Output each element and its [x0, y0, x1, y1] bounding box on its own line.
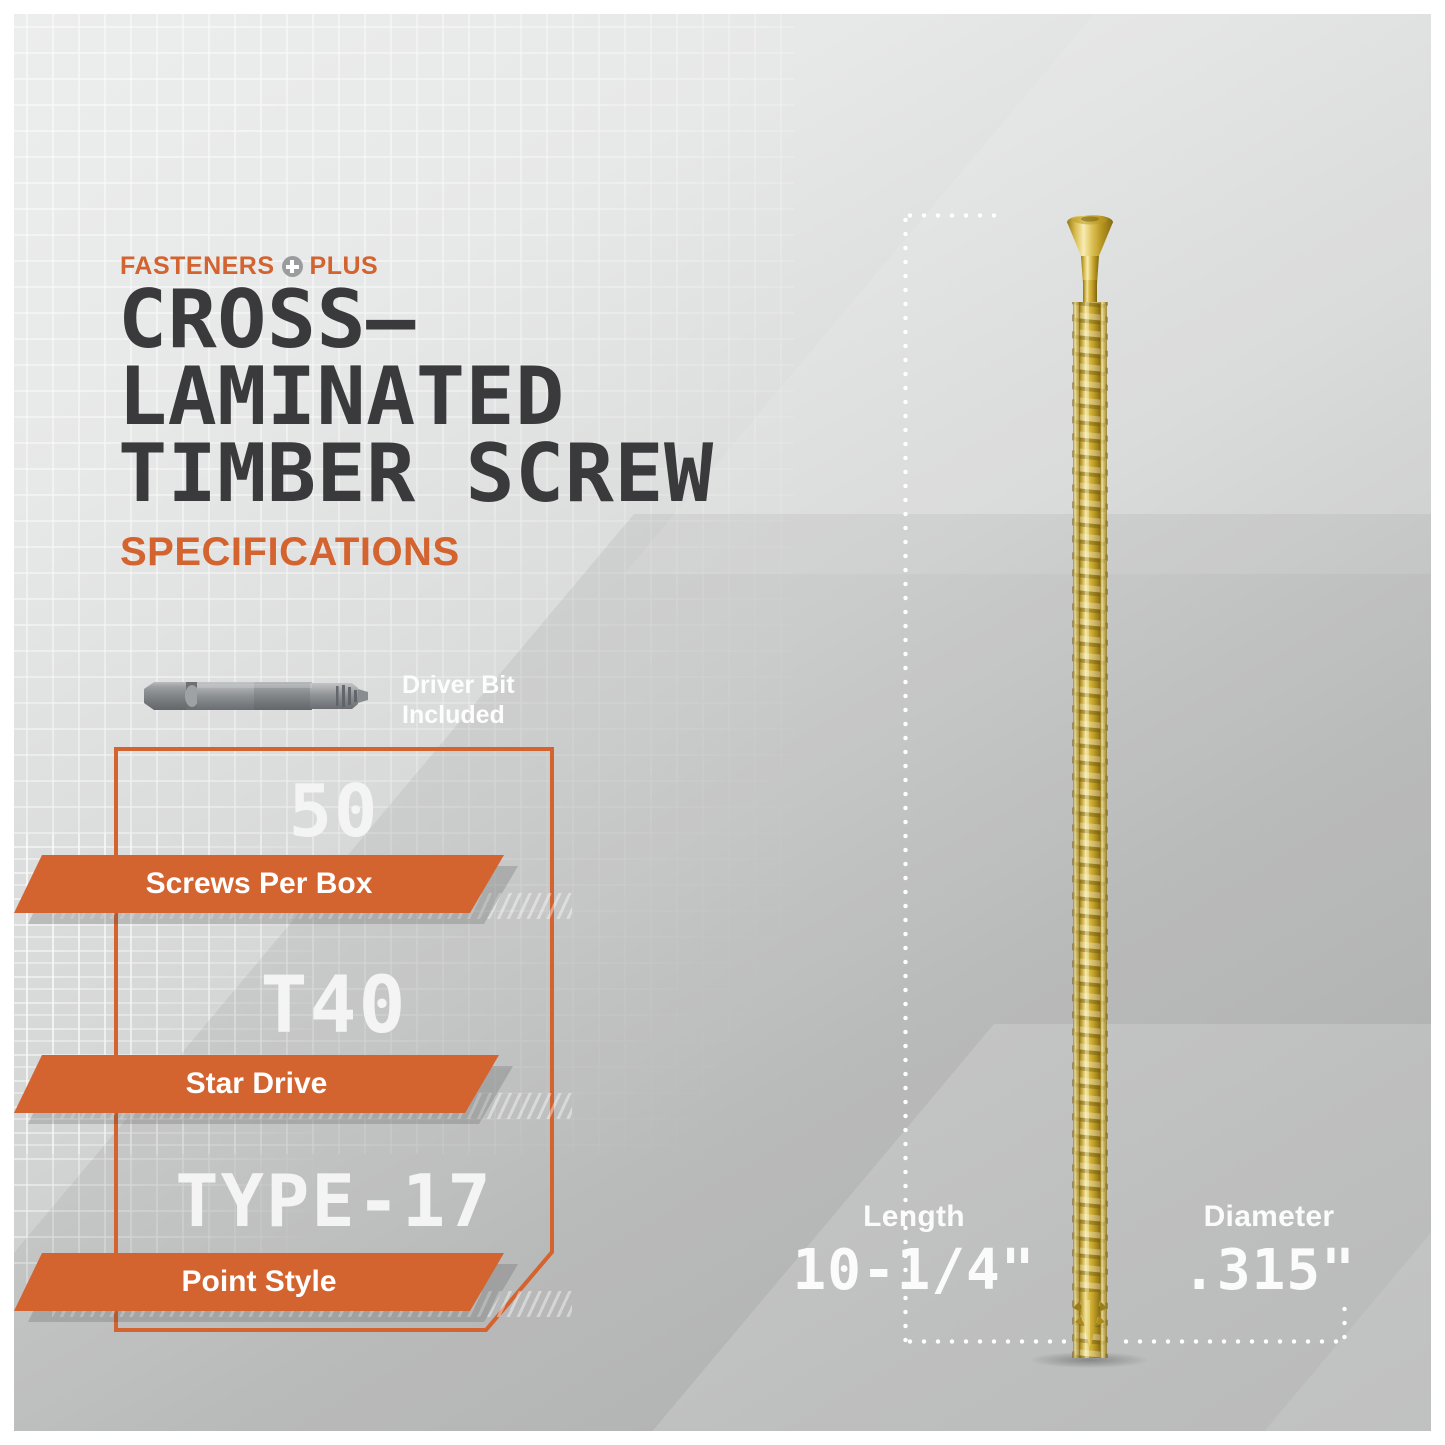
product-spec-graphic: FASTENERS PLUS CROSS– LAMINATED TIMBER S…: [0, 0, 1445, 1445]
dimension-line-bottom-right: [1119, 1339, 1347, 1344]
driver-bit-label-line-1: Driver Bit: [402, 670, 515, 700]
spec-value: TYPE-17: [114, 1159, 554, 1243]
screw-image: [1066, 210, 1114, 1358]
spec-ribbon: Screws Per Box: [14, 855, 504, 913]
spec-label: Star Drive: [14, 1055, 499, 1113]
dimension-line-right: [1342, 1302, 1347, 1344]
spec-value: 50: [114, 769, 554, 853]
dimension-line-bottom-left: [903, 1339, 1066, 1344]
specifications-panel: 50 Screws Per Box T40 Star Drive: [114, 747, 554, 1332]
measurement-value: .315": [1144, 1238, 1394, 1303]
driver-bit-label: Driver Bit Included: [402, 670, 515, 730]
driver-bit-icon: [142, 678, 377, 714]
measurement-diameter: Diameter .315": [1144, 1200, 1394, 1303]
page-title: CROSS– LAMINATED TIMBER SCREW: [118, 282, 1018, 512]
measurement-caption: Diameter: [1144, 1200, 1394, 1234]
measurement-value: 10-1/4": [789, 1238, 1039, 1303]
measurement-length: Length 10-1/4": [789, 1200, 1039, 1303]
artboard: FASTENERS PLUS CROSS– LAMINATED TIMBER S…: [14, 14, 1431, 1431]
title-line-1: CROSS–: [118, 282, 1036, 359]
spec-ribbon: Star Drive: [14, 1055, 499, 1113]
title-line-3: TIMBER SCREW: [118, 436, 1036, 513]
measurement-caption: Length: [789, 1200, 1039, 1234]
spec-value: T40: [114, 961, 554, 1051]
page-subtitle: SPECIFICATIONS: [120, 530, 460, 575]
driver-bit-label-line-2: Included: [402, 700, 515, 730]
spec-ribbon: Point Style: [14, 1253, 504, 1311]
dimension-line-left: [903, 213, 908, 1343]
spec-label: Screws Per Box: [14, 855, 504, 913]
dimension-line-top: [903, 213, 1003, 218]
spec-label: Point Style: [14, 1253, 504, 1311]
title-line-2: LAMINATED: [118, 359, 1036, 436]
